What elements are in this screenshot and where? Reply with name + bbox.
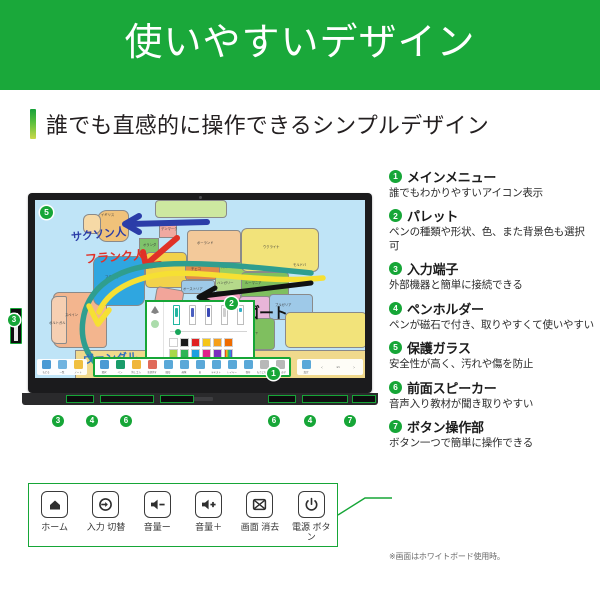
toolbar-note-icon[interactable]: ノート — [71, 360, 85, 374]
whiteboard-toolbar[interactable]: もどる 一覧 ノート 選 — [35, 356, 365, 378]
feature-header: 3 入力端子 — [389, 259, 594, 278]
feature-item-5: 5 保護ガラス 安全性が高く、汚れや傷を防止 — [389, 338, 594, 371]
button-label-screen-blank: 画面 消去 — [241, 522, 280, 532]
feature-title: 入力端子 — [407, 259, 458, 278]
toolbar-pen-icon[interactable]: ペン — [113, 360, 127, 374]
toolbar-left-group[interactable]: もどる 一覧 ノート — [37, 359, 87, 375]
volume-up-icon — [200, 498, 217, 511]
feature-header: 5 保護ガラス — [389, 338, 594, 357]
page-title: 使いやすいデザイン — [124, 24, 475, 66]
pen-width-slider[interactable] — [168, 328, 249, 335]
feature-title: 前面スピーカー — [407, 378, 497, 397]
feature-title: パレット — [407, 206, 458, 225]
feature-number-badge: 7 — [389, 420, 402, 433]
toolbar-eraser-icon[interactable]: 消しゴム — [129, 360, 143, 374]
feature-number-badge: 1 — [389, 170, 402, 183]
callout-badge-7-bottom: 7 — [344, 415, 356, 427]
feature-header: 6 前面スピーカー — [389, 378, 594, 397]
volume-down-button[interactable] — [144, 491, 171, 518]
pen-tip-icon[interactable] — [151, 306, 159, 314]
toolbar-save-icon[interactable]: 保存 — [241, 360, 255, 374]
palette-side-tools[interactable] — [147, 302, 164, 364]
color-swatch[interactable] — [202, 338, 211, 347]
front-speaker-left — [160, 395, 194, 403]
feature-item-2: 2 パレット ペンの種類や形状、色、また背景色も選択可 — [389, 206, 594, 253]
callout-badge-2: 2 — [225, 297, 238, 310]
toolbar-right-group[interactable]: 設定 ＜ 1/1 ＞ — [297, 359, 363, 375]
color-swatch[interactable] — [213, 338, 222, 347]
feature-title: ボタン操作部 — [407, 417, 484, 436]
pen-option-thin-pen[interactable] — [189, 305, 196, 325]
feature-item-1: 1 メインメニュー 誰でもわかりやすいアイコン表示 — [389, 167, 594, 200]
slider-knob[interactable] — [175, 329, 181, 335]
feature-description: ペンの種類や形状、色、また背景色も選択可 — [389, 226, 594, 253]
toolbar-image-icon[interactable]: 画像 — [177, 360, 191, 374]
pen-option-eraser-pen[interactable] — [237, 305, 244, 325]
color-swatch-row[interactable] — [169, 338, 248, 347]
feature-description: 安全性が高く、汚れや傷を防止 — [389, 358, 594, 371]
feature-item-4: 4 ペンホルダー ペンが磁石で付き、取りやすくて使いやすい — [389, 299, 594, 332]
home-icon — [48, 498, 62, 512]
feature-number-badge: 4 — [389, 302, 402, 315]
button-cell-screen-blank[interactable]: 画面 消去 — [237, 491, 283, 532]
button-operation-panel[interactable]: ホーム 入力 切替 音量ー — [28, 483, 338, 547]
pen-holder-right — [302, 395, 348, 403]
callout-badge-6-left: 6 — [120, 415, 132, 427]
toolbar-page-next[interactable]: ＞ — [347, 365, 361, 370]
feature-description: 外部機器と簡単に接続できる — [389, 279, 594, 292]
toolbar-layer-icon[interactable]: レイヤー — [225, 360, 239, 374]
button-label-volume-up: 音量＋ — [195, 522, 222, 532]
button-label-volume-down: 音量ー — [144, 522, 171, 532]
callout-badge-3-side: 3 — [8, 314, 20, 326]
subtitle-row: 誰でも直感的に操作できるシンプルデザイン — [0, 104, 600, 144]
device-illustration: イギリス ポーランド ウクライナ ドイツ チェコ スロバキア ハンガリー ルーマ… — [22, 193, 378, 405]
color-swatch[interactable] — [180, 338, 189, 347]
toolbar-shape-icon[interactable]: 図形 — [161, 360, 175, 374]
feature-number-badge: 2 — [389, 209, 402, 222]
color-swatch[interactable] — [224, 338, 233, 347]
eraser-icon[interactable] — [151, 320, 159, 328]
display-screen: イギリス ポーランド ウクライナ ドイツ チェコ スロバキア ハンガリー ルーマ… — [35, 200, 365, 378]
button-label-input-switch: 入力 切替 — [87, 522, 126, 532]
feature-header: 7 ボタン操作部 — [389, 417, 594, 436]
callout-badge-3-bottom: 3 — [52, 415, 64, 427]
input-switch-button[interactable] — [92, 491, 119, 518]
button-cell-input-switch[interactable]: 入力 切替 — [83, 491, 129, 532]
toolbar-page-icon[interactable]: 表 — [193, 360, 207, 374]
pen-option-brush-pen[interactable] — [205, 305, 212, 325]
infographic-page: 使いやすいデザイン 誰でも直感的に操作できるシンプルデザイン — [0, 0, 600, 600]
callout-badge-5: 5 — [40, 206, 53, 219]
color-swatches[interactable] — [168, 338, 249, 358]
callout-badge-6-right: 6 — [268, 415, 280, 427]
toolbar-back-icon[interactable]: もどる — [39, 360, 53, 374]
feature-description: 誰でもわかりやすいアイコン表示 — [389, 187, 594, 200]
feature-description: ボタン一つで簡単に操作できる — [389, 437, 594, 450]
toolbar-delete-icon[interactable]: 全部消す — [145, 360, 159, 374]
feature-description: 音声入り教材が聞き取りやすい — [389, 398, 594, 411]
screen-blank-icon — [252, 498, 267, 511]
toolbar-page-prev[interactable]: ＜ — [315, 365, 329, 370]
feature-title: 保護ガラス — [407, 338, 471, 357]
slider-track[interactable] — [170, 331, 247, 332]
feature-header: 2 パレット — [389, 206, 594, 225]
feature-number-badge: 3 — [389, 262, 402, 275]
button-cell-home[interactable]: ホーム — [32, 491, 78, 532]
footnote: ※画面はホワイトボード使用時。 — [389, 551, 505, 562]
button-cell-volume-down[interactable]: 音量ー — [134, 491, 180, 532]
pen-holder-left — [100, 395, 154, 403]
feature-header: 1 メインメニュー — [389, 167, 594, 186]
feature-item-7: 7 ボタン操作部 ボタン一つで簡単に操作できる — [389, 417, 594, 450]
pen-option-marker-pen[interactable] — [173, 305, 180, 325]
display-bezel: イギリス ポーランド ウクライナ ドイツ チェコ スロバキア ハンガリー ルーマ… — [28, 193, 372, 393]
home-button[interactable] — [41, 491, 68, 518]
button-cell-power[interactable]: 電源 ボタン — [288, 491, 334, 543]
feature-title: ペンホルダー — [407, 299, 484, 318]
front-speaker-right — [268, 395, 296, 403]
feature-item-3: 3 入力端子 外部機器と簡単に接続できる — [389, 259, 594, 292]
button-label-power: 電源 ボタン — [288, 522, 334, 543]
volume-down-icon — [149, 498, 166, 511]
feature-item-6: 6 前面スピーカー 音声入り教材が聞き取りやすい — [389, 378, 594, 411]
page-header: 使いやすいデザイン — [0, 0, 600, 90]
feature-description: ペンが磁石で付き、取りやすくて使いやすい — [389, 319, 594, 332]
toolbar-select-icon[interactable]: 選択 — [97, 360, 111, 374]
feature-number-badge: 5 — [389, 341, 402, 354]
button-label-home: ホーム — [41, 522, 68, 532]
callout-badge-4-left: 4 — [86, 415, 98, 427]
toolbar-text-icon[interactable]: テキスト — [209, 360, 223, 374]
feature-header: 4 ペンホルダー — [389, 299, 594, 318]
toolbar-main-menu[interactable]: 選択 ペン 消しゴム 全部消す 図形 — [93, 357, 291, 377]
power-button[interactable] — [298, 491, 325, 518]
volume-up-button[interactable] — [195, 491, 222, 518]
color-swatch[interactable] — [169, 338, 178, 347]
device-chassis — [22, 393, 378, 405]
feature-title: メインメニュー — [407, 167, 496, 186]
toolbar-list-icon[interactable]: 一覧 — [55, 360, 69, 374]
subtitle-text: 誰でも直感的に操作できるシンプルデザイン — [46, 108, 489, 140]
feature-list: 1 メインメニュー 誰でもわかりやすいアイコン表示 2 パレット ペンの種類や形… — [389, 167, 594, 457]
button-panel-area — [352, 395, 376, 403]
callout-badge-4-right: 4 — [304, 415, 316, 427]
pen-type-row[interactable] — [168, 305, 249, 325]
feature-number-badge: 6 — [389, 381, 402, 394]
power-icon — [304, 497, 319, 512]
toolbar-page-indicator: 1/1 — [331, 365, 345, 369]
input-switch-icon — [98, 497, 113, 512]
button-cell-volume-up[interactable]: 音量＋ — [186, 491, 232, 532]
palette-main[interactable] — [164, 302, 253, 364]
accent-bar — [30, 109, 36, 139]
bottom-input-port — [66, 395, 94, 403]
callout-badge-1: 1 — [267, 367, 280, 380]
screen-blank-button[interactable] — [246, 491, 273, 518]
color-swatch[interactable] — [191, 338, 200, 347]
toolbar-settings-icon[interactable]: 設定 — [299, 360, 313, 374]
